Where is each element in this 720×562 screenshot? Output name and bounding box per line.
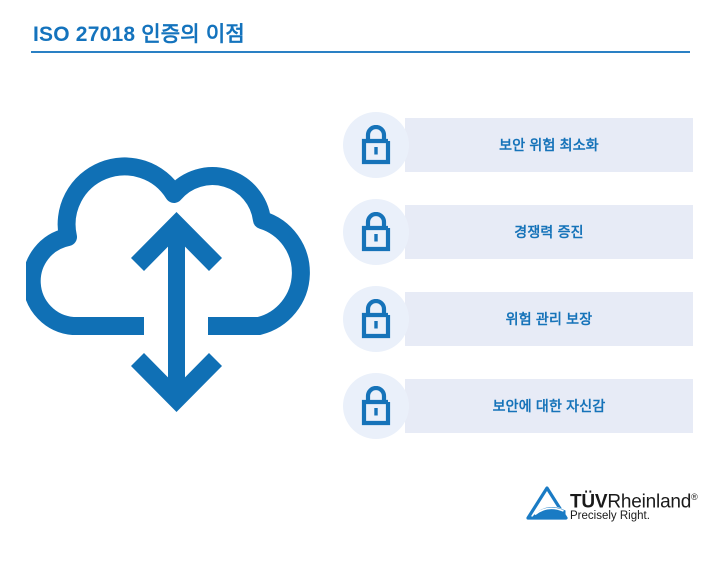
benefit-icon-circle — [343, 199, 409, 265]
list-item[interactable]: 보안에 대한 자신감 — [343, 373, 693, 439]
benefit-label: 보안 위험 최소화 — [405, 118, 693, 172]
slide-header: ISO 27018 인증의 이점 — [0, 0, 720, 58]
slide-canvas: ISO 27018 인증의 이점 보안 위험 최소화 — [0, 0, 720, 562]
benefit-icon-circle — [343, 112, 409, 178]
page-title: ISO 27018 인증의 이점 — [33, 18, 245, 48]
double-arrow — [131, 212, 222, 412]
list-item[interactable]: 경쟁력 증진 — [343, 199, 693, 265]
list-item[interactable]: 위험 관리 보장 — [343, 286, 693, 352]
lock-icon — [358, 299, 394, 339]
benefit-icon-circle — [343, 373, 409, 439]
tuv-rheinland-logo: TÜVRheinland® Precisely Right. — [524, 482, 704, 532]
benefits-list: 보안 위험 최소화 경쟁력 증진 위험 관리 — [343, 112, 693, 437]
logo-tagline: Precisely Right. — [570, 510, 650, 522]
benefit-label: 경쟁력 증진 — [405, 205, 693, 259]
benefit-icon-circle — [343, 286, 409, 352]
title-divider — [31, 51, 690, 53]
tuv-rheinland-triangle-icon — [524, 484, 570, 524]
lock-icon — [358, 125, 394, 165]
lock-icon — [358, 212, 394, 252]
registered-mark: ® — [691, 492, 698, 502]
lock-icon — [358, 386, 394, 426]
list-item[interactable]: 보안 위험 최소화 — [343, 112, 693, 178]
benefit-label: 위험 관리 보장 — [405, 292, 693, 346]
triangle-swoosh-icon — [524, 484, 570, 524]
benefit-label: 보안에 대한 자신감 — [405, 379, 693, 433]
cloud-upload-download-icon — [26, 150, 326, 420]
cloud-illustration-svg — [26, 150, 326, 420]
